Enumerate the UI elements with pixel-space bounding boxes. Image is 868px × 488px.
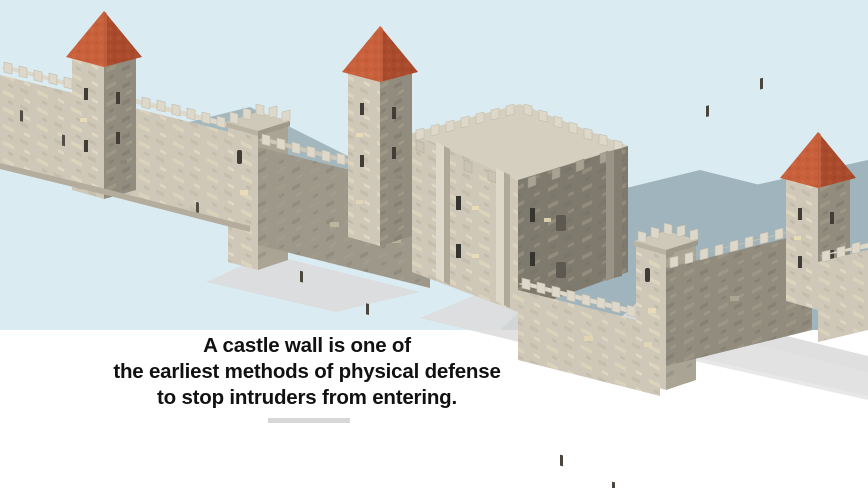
red-roof-tower-left — [66, 11, 142, 199]
castle-illustration — [0, 0, 868, 488]
caption-line-3: to stop intruders from entering. — [0, 385, 614, 411]
illustration-stage: A castle wall is one of the earliest met… — [0, 0, 868, 488]
far-right-wall-segment — [818, 242, 868, 342]
red-roof-tower-center — [342, 26, 418, 246]
caption-line-1: A castle wall is one of — [0, 333, 614, 359]
caption-line-2: the earliest methods of physical defense — [0, 359, 614, 385]
keep-buttresses-right — [606, 148, 622, 281]
caption-text: A castle wall is one of the earliest met… — [0, 333, 614, 411]
caption-underline-bar — [268, 418, 350, 423]
